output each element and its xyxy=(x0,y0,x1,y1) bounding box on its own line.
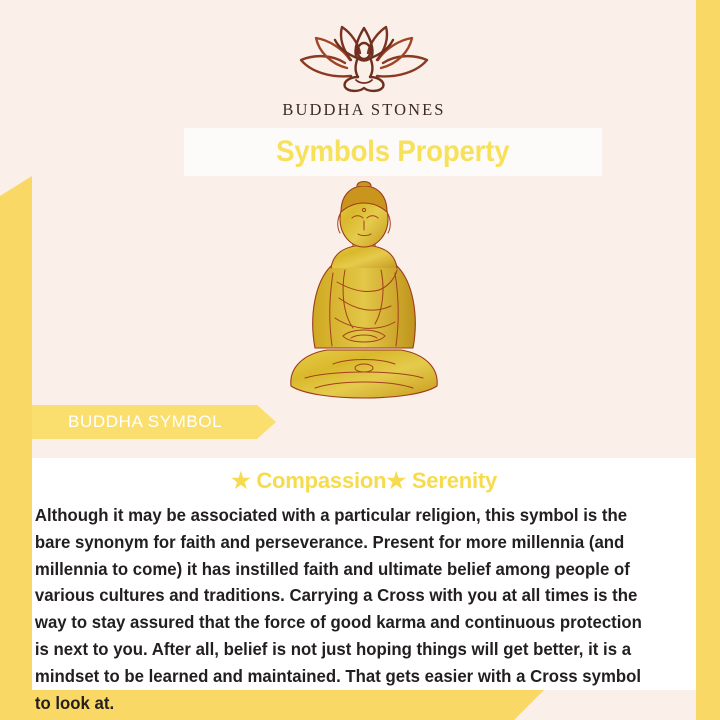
poster-root: BUDDHA STONES Symbols Property xyxy=(0,0,720,720)
category-tag: BUDDHA SYMBOL xyxy=(32,405,276,439)
content-subtitle: ★ Compassion★ Serenity xyxy=(32,458,696,494)
right-accent-band xyxy=(696,0,720,720)
hero-image xyxy=(32,178,696,408)
brand-name: BUDDHA STONES xyxy=(282,100,445,120)
content-panel: ★ Compassion★ Serenity Although it may b… xyxy=(32,458,696,690)
left-accent-band xyxy=(0,0,32,720)
lotus-meditation-icon xyxy=(289,22,439,94)
brand-lockup: BUDDHA STONES xyxy=(32,22,696,120)
hero-stage: BUDDHA STONES Symbols Property xyxy=(32,0,696,458)
content-paragraph: Although it may be associated with a par… xyxy=(32,494,673,716)
category-tag-label: BUDDHA SYMBOL xyxy=(68,412,222,432)
title-banner: Symbols Property xyxy=(184,128,602,176)
page-title: Symbols Property xyxy=(276,135,509,169)
